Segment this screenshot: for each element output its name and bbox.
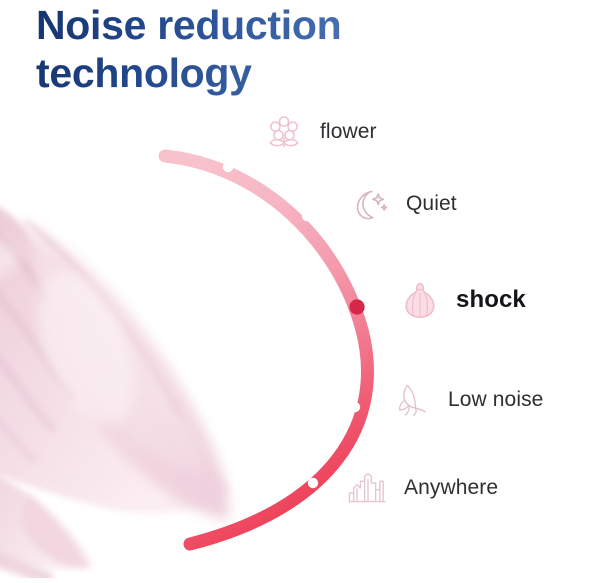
arc-marker-shock-active[interactable] <box>349 299 364 314</box>
feature-row-quiet[interactable]: Quiet <box>348 182 457 226</box>
feature-label: Anywhere <box>404 476 498 500</box>
page-title: Noise reduction technology <box>36 2 456 97</box>
feature-row-anywhere[interactable]: Anywhere <box>346 466 498 510</box>
leaf-icon <box>390 378 434 422</box>
cityscape-icon <box>346 466 390 510</box>
feature-label: Quiet <box>406 192 457 216</box>
bulb-icon <box>398 278 442 322</box>
moon-icon <box>348 182 392 226</box>
arc-track[interactable] <box>165 156 368 544</box>
feature-row-shock[interactable]: shock <box>398 278 526 322</box>
feature-row-flower[interactable]: flower <box>262 110 377 154</box>
arc-marker-quiet[interactable] <box>302 211 312 221</box>
flower-icon <box>262 110 306 154</box>
feature-label: Low noise <box>448 388 543 412</box>
arc-marker-flower[interactable] <box>223 162 233 172</box>
arc-marker-low-noise[interactable] <box>350 402 360 412</box>
feature-row-low-noise[interactable]: Low noise <box>390 378 543 422</box>
feature-label: shock <box>456 286 526 314</box>
arc-marker-anywhere[interactable] <box>308 478 318 488</box>
feature-label: flower <box>320 120 377 144</box>
